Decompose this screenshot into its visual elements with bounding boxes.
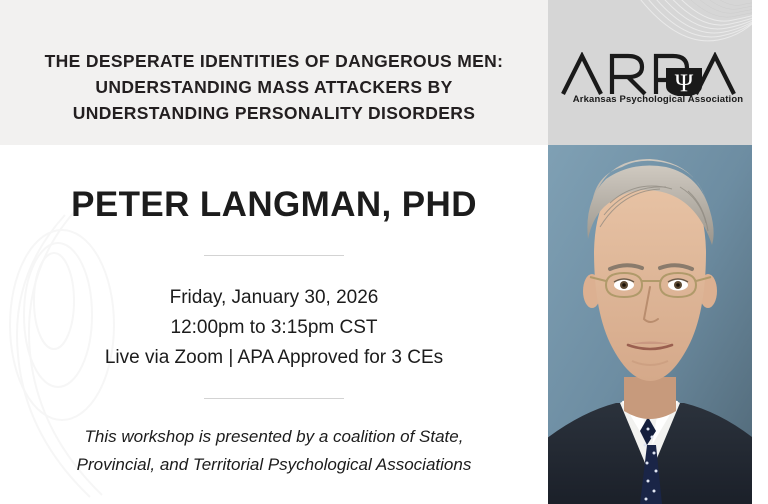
logo-panel: Ψ Arkansas Psychological Association (548, 0, 768, 145)
header-band: THE DESPERATE IDENTITIES OF DANGEROUS ME… (0, 0, 548, 145)
title-line-1: THE DESPERATE IDENTITIES OF DANGEROUS ME… (0, 48, 548, 74)
svg-text:Ψ: Ψ (675, 70, 694, 96)
divider-bottom (204, 398, 344, 399)
title-line-2: UNDERSTANDING MASS ATTACKERS BY (0, 74, 548, 100)
divider-top (204, 255, 344, 256)
logo-panel-right-margin (752, 0, 768, 145)
page-title: THE DESPERATE IDENTITIES OF DANGEROUS ME… (0, 48, 548, 126)
presenter-coalition-note: This workshop is presented by a coalitio… (0, 423, 548, 479)
logo-subtitle: Arkansas Psychological Association (560, 94, 756, 105)
event-time: 12:00pm to 3:15pm CST (0, 313, 548, 343)
event-date: Friday, January 30, 2026 (0, 283, 548, 313)
arpa-wordmark-icon: Ψ (560, 52, 756, 96)
webinar-flyer: THE DESPERATE IDENTITIES OF DANGEROUS ME… (0, 0, 768, 504)
content-area: PETER LANGMAN, PHD Friday, January 30, 2… (0, 145, 548, 504)
psi-shield-emblem-icon: Ψ (666, 68, 702, 96)
arpa-logo: Ψ Arkansas Psychological Association (560, 52, 756, 114)
speaker-photo (548, 145, 752, 504)
note-line-2: Provincial, and Territorial Psychologica… (0, 451, 548, 479)
event-format-credits: Live via Zoom | APA Approved for 3 CEs (0, 343, 548, 373)
speaker-name: PETER LANGMAN, PHD (0, 185, 548, 225)
note-line-1: This workshop is presented by a coalitio… (0, 423, 548, 451)
event-details: Friday, January 30, 2026 12:00pm to 3:15… (0, 283, 548, 373)
photo-right-margin (752, 145, 768, 504)
title-line-3: UNDERSTANDING PERSONALITY DISORDERS (0, 100, 548, 126)
speaker-portrait-illustration (548, 145, 752, 504)
